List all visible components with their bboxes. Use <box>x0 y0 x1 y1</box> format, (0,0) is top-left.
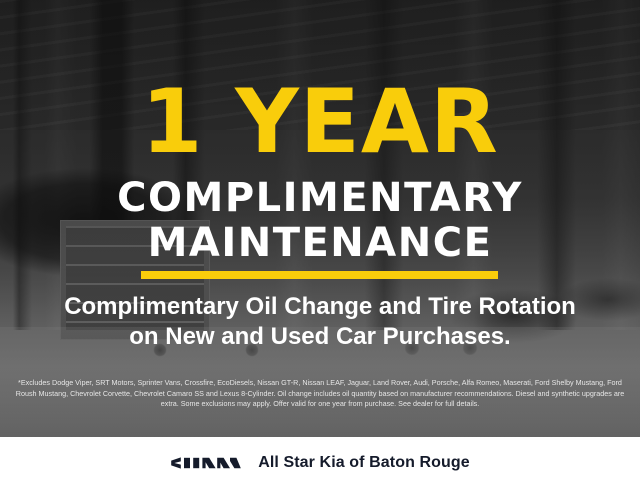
footer-bar: All Star Kia of Baton Rouge <box>0 437 640 488</box>
headline-secondary-line-2: MAINTENANCE <box>0 221 640 265</box>
subheadline: Complimentary Oil Change and Tire Rotati… <box>20 292 620 352</box>
headline-secondary-line-1: COMPLIMENTARY <box>0 176 640 220</box>
promo-banner: 1 YEAR COMPLIMENTARY MAINTENANCE Complim… <box>0 0 640 488</box>
dealer-name-label: All Star Kia of Baton Rouge <box>258 454 470 472</box>
background-photo: 1 YEAR COMPLIMENTARY MAINTENANCE Complim… <box>0 0 640 437</box>
banner-content: 1 YEAR COMPLIMENTARY MAINTENANCE Complim… <box>0 0 640 437</box>
footer-branding: All Star Kia of Baton Rouge <box>170 453 470 473</box>
kia-logo-icon <box>170 453 242 473</box>
headline-primary: 1 YEAR <box>0 76 640 168</box>
subheadline-line-1: Complimentary Oil Change and Tire Rotati… <box>20 292 620 322</box>
subheadline-line-2: on New and Used Car Purchases. <box>20 322 620 352</box>
yellow-divider-rule <box>141 271 498 279</box>
disclaimer-text: *Excludes Dodge Viper, SRT Motors, Sprin… <box>14 378 626 410</box>
